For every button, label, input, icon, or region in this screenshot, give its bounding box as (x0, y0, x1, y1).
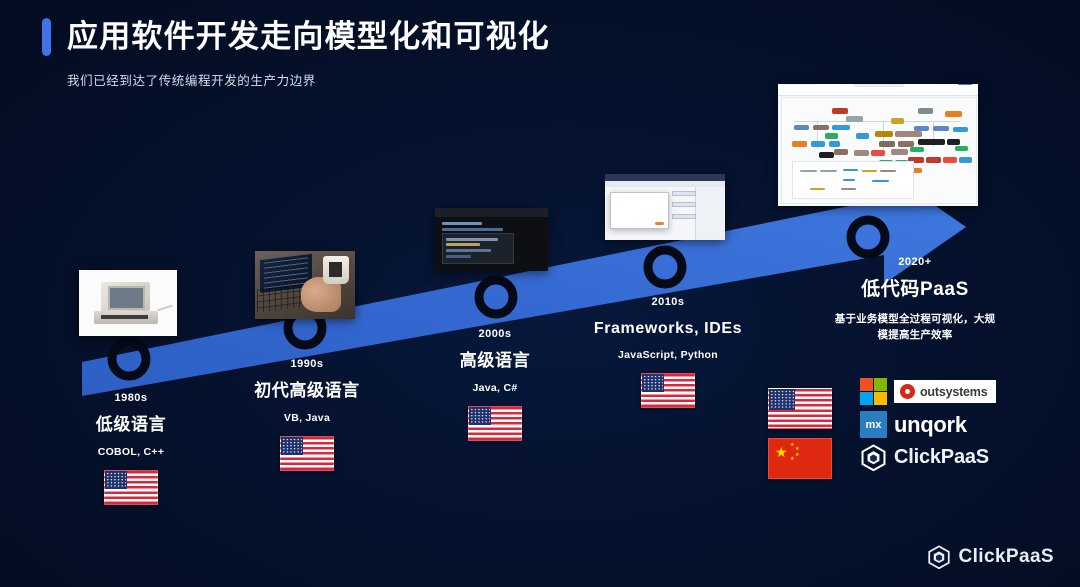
canvas-topbar (778, 84, 978, 96)
canvas-node[interactable] (953, 127, 969, 133)
thumbnail-1980s (79, 270, 177, 336)
canvas-node[interactable] (832, 125, 849, 131)
milestone-year: 2020+ (810, 256, 1020, 268)
outsystems-label: outsystems (920, 385, 987, 399)
canvas-node[interactable] (879, 141, 895, 147)
milestone-flags (400, 406, 590, 441)
canvas-node[interactable] (792, 141, 808, 147)
flag-us-canton (642, 374, 664, 392)
milestone-name: Frameworks, IDEs (573, 319, 763, 338)
canvas-node[interactable] (846, 116, 863, 122)
outsystems-logo: outsystems (894, 380, 996, 403)
canvas-node[interactable] (943, 157, 957, 163)
milestone-flags (212, 436, 402, 471)
slide-root: 应用软件开发走向模型化和可视化 我们已经到达了传统编程开发的生产力边界 (0, 0, 1080, 587)
canvas-node[interactable] (933, 126, 949, 132)
milestone-tech: Java, C# (400, 382, 590, 394)
milestone-flags (36, 470, 226, 505)
code-line (446, 249, 491, 252)
milestone-year: 2010s (573, 296, 763, 308)
milestone-2020plus: 2020+ 低代码PaaS 基于业务模型全过程可视化，大规模提高生产效率 (810, 256, 1020, 344)
flag-us-icon (280, 436, 334, 471)
flag-us-icon (768, 388, 832, 429)
canvas-node[interactable] (955, 146, 969, 152)
canvas-node[interactable] (872, 180, 889, 182)
milestone-year: 1990s (212, 358, 402, 370)
flag-us-canton (469, 407, 491, 425)
canvas-node[interactable] (918, 139, 945, 145)
milestone-description: 基于业务模型全过程可视化，大规模提高生产效率 (831, 312, 999, 344)
canvas-node[interactable] (945, 111, 962, 117)
watermark-label: ClickPaaS (959, 546, 1055, 568)
canvas-node[interactable] (820, 170, 837, 172)
canvas-node[interactable] (959, 157, 973, 163)
flag-us-icon (641, 373, 695, 408)
milestone-name: 高级语言 (400, 351, 590, 371)
flag-us-canton (769, 389, 795, 410)
ide-side-panel (695, 187, 725, 240)
canvas-node[interactable] (813, 125, 829, 131)
milestone-name: 低级语言 (36, 415, 226, 435)
canvas-node[interactable] (800, 170, 817, 172)
flag-us-canton (281, 437, 303, 455)
china-small-stars: ★★★★ (788, 442, 804, 460)
unqork-label: unqork (894, 412, 967, 438)
flow-node (672, 214, 696, 219)
flag-us-canton (105, 471, 127, 489)
microsoft-logo-icon (860, 378, 887, 405)
milestone-name: 低代码PaaS (810, 279, 1020, 301)
code-line (446, 243, 480, 246)
milestone-year: 1980s (36, 392, 226, 404)
vintage-computer-drive (101, 315, 148, 320)
flow-node (672, 202, 696, 207)
canvas-node[interactable] (947, 139, 961, 145)
ide-titlebar (605, 174, 725, 181)
flag-us-icon (104, 470, 158, 505)
clickpaas-hex-icon (860, 444, 887, 471)
thumbnail-2020plus (778, 84, 978, 206)
canvas-node[interactable] (875, 131, 892, 137)
canvas-node[interactable] (880, 170, 896, 172)
vendor-logo-list: outsystems mx unqork ClickPaaS (860, 378, 1020, 477)
thumbnail-1990s (255, 251, 355, 319)
canvas-node[interactable] (910, 147, 924, 153)
dialog-primary-button[interactable] (655, 222, 664, 225)
editor-toolbar (435, 208, 548, 217)
mendix-logo-icon: mx (860, 411, 887, 438)
code-line (446, 238, 498, 241)
canvas-search-input[interactable] (854, 84, 904, 86)
ide-flow-diagram (672, 191, 694, 224)
milestone-name: 初代高级语言 (212, 381, 402, 401)
milestone-2010s: 2010s Frameworks, IDEs JavaScript, Pytho… (573, 296, 763, 408)
milestone-year: 2000s (400, 328, 590, 340)
page-title: 应用软件开发走向模型化和可视化 (67, 20, 550, 54)
canvas-node[interactable] (854, 150, 870, 156)
brand-watermark: ClickPaaS (927, 545, 1055, 569)
code-line (442, 228, 503, 231)
milestone-2020plus-flags: ★ ★★★★ (768, 388, 832, 479)
milestone-1990s: 1990s 初代高级语言 VB, Java (212, 358, 402, 471)
canvas-node[interactable] (891, 149, 908, 155)
canvas-action-button[interactable] (958, 84, 972, 85)
canvas-node[interactable] (819, 152, 835, 158)
vintage-computer-screen (108, 286, 144, 310)
canvas-node[interactable] (926, 157, 942, 163)
canvas-node[interactable] (862, 170, 876, 172)
canvas-node[interactable] (825, 133, 839, 139)
clickpaas-watermark-icon (927, 545, 951, 569)
canvas-node[interactable] (794, 125, 810, 131)
thumbnail-2000s (435, 208, 548, 271)
canvas-node[interactable] (843, 169, 857, 171)
vintage-computer-cable (157, 305, 173, 312)
canvas-node[interactable] (841, 188, 857, 190)
canvas-node[interactable] (895, 131, 922, 137)
vendor-row-mendix-unqork: mx unqork (860, 411, 1020, 438)
milestone-flags (573, 373, 763, 408)
vendor-row-microsoft-outsystems: outsystems (860, 378, 1020, 405)
china-big-star: ★ (775, 445, 788, 459)
flag-us-icon (468, 406, 522, 441)
canvas-node[interactable] (843, 179, 855, 181)
canvas-edge (794, 121, 961, 122)
code-line (442, 222, 483, 225)
clickpaas-label: ClickPaaS (894, 446, 989, 469)
canvas-node[interactable] (811, 141, 825, 147)
milestone-tech: JavaScript, Python (573, 349, 763, 361)
title-accent-bar (42, 18, 51, 56)
canvas-node[interactable] (918, 108, 934, 114)
outsystems-mark-icon (900, 384, 915, 399)
canvas-node[interactable] (856, 133, 870, 139)
canvas-workspace[interactable] (781, 97, 977, 204)
page-subtitle: 我们已经到达了传统编程开发的生产力边界 (67, 70, 802, 89)
canvas-node[interactable] (834, 149, 848, 155)
milestone-tech: COBOL, C++ (36, 446, 226, 458)
milestone-tech: VB, Java (212, 412, 402, 424)
flag-china-icon: ★ ★★★★ (768, 438, 832, 479)
canvas-group-frame[interactable] (792, 161, 914, 199)
canvas-node[interactable] (829, 141, 841, 147)
slide-header: 应用软件开发走向模型化和可视化 我们已经到达了传统编程开发的生产力边界 (42, 18, 802, 89)
flow-node (672, 191, 696, 196)
title-row: 应用软件开发走向模型化和可视化 (42, 18, 802, 56)
ide-dialog (610, 192, 670, 228)
coffee-mug (323, 256, 349, 283)
milestone-1980s: 1980s 低级语言 COBOL, C++ (36, 392, 226, 505)
code-line (446, 255, 471, 258)
canvas-node[interactable] (891, 118, 905, 124)
canvas-node[interactable] (832, 108, 848, 114)
milestone-2000s: 2000s 高级语言 Java, C# (400, 328, 590, 441)
canvas-node[interactable] (810, 188, 826, 190)
thumbnail-2010s (605, 174, 725, 240)
canvas-node[interactable] (871, 150, 885, 156)
vendor-row-clickpaas: ClickPaaS (860, 444, 1020, 471)
